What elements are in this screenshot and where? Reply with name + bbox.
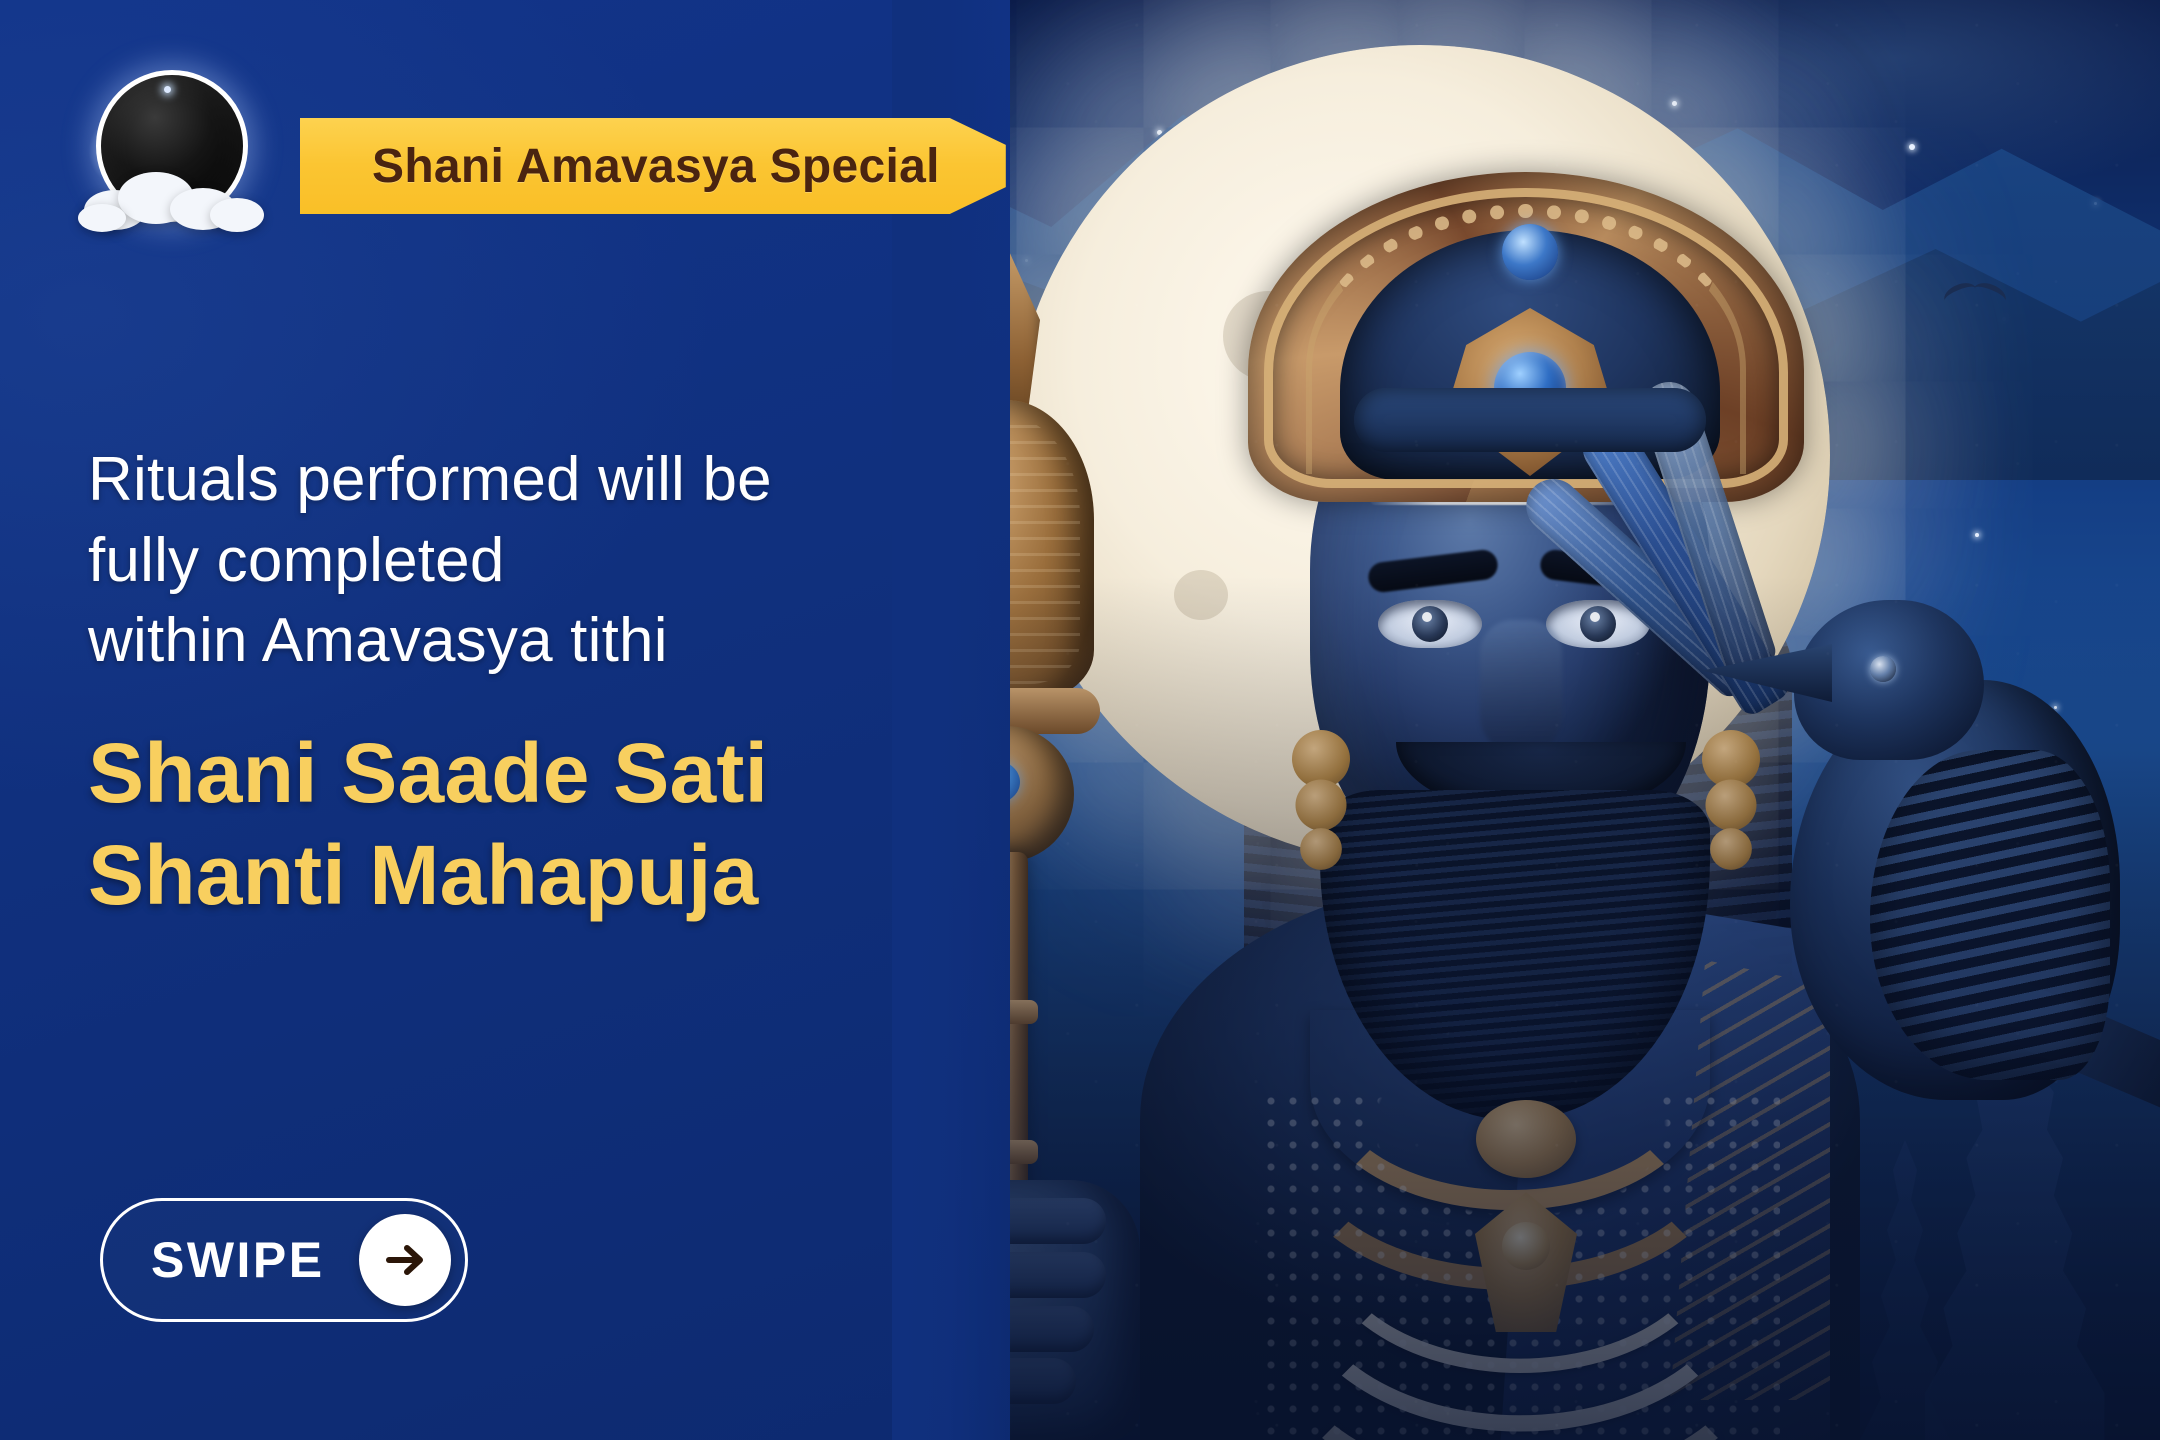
badge-label: Shani Amavasya Special xyxy=(372,139,940,194)
subhead-line-1: Rituals performed will be xyxy=(88,440,988,521)
badge-shani-amavasya-special[interactable]: Shani Amavasya Special xyxy=(300,118,1006,214)
eclipse-sparkle xyxy=(164,86,171,93)
swipe-button[interactable]: SWIPE xyxy=(100,1198,468,1322)
artwork-shani-dev xyxy=(840,0,2160,1440)
solar-eclipse-icon xyxy=(78,62,274,232)
headline-line-1: Shani Saade Sati xyxy=(88,722,988,824)
swipe-button-label: SWIPE xyxy=(151,1231,325,1289)
headline-line-2: Shanti Mahapuja xyxy=(88,824,988,926)
subhead-line-2: fully completed xyxy=(88,521,988,602)
artwork-dark-veil xyxy=(840,0,2160,1440)
subhead-line-3: within Amavasya tithi xyxy=(88,601,988,682)
cloud-icon xyxy=(78,170,274,232)
arrow-right-icon[interactable] xyxy=(359,1214,451,1306)
copy-block: Rituals performed will be fully complete… xyxy=(88,440,988,927)
promo-banner: Shani Amavasya Special Rituals performed… xyxy=(0,0,2160,1440)
